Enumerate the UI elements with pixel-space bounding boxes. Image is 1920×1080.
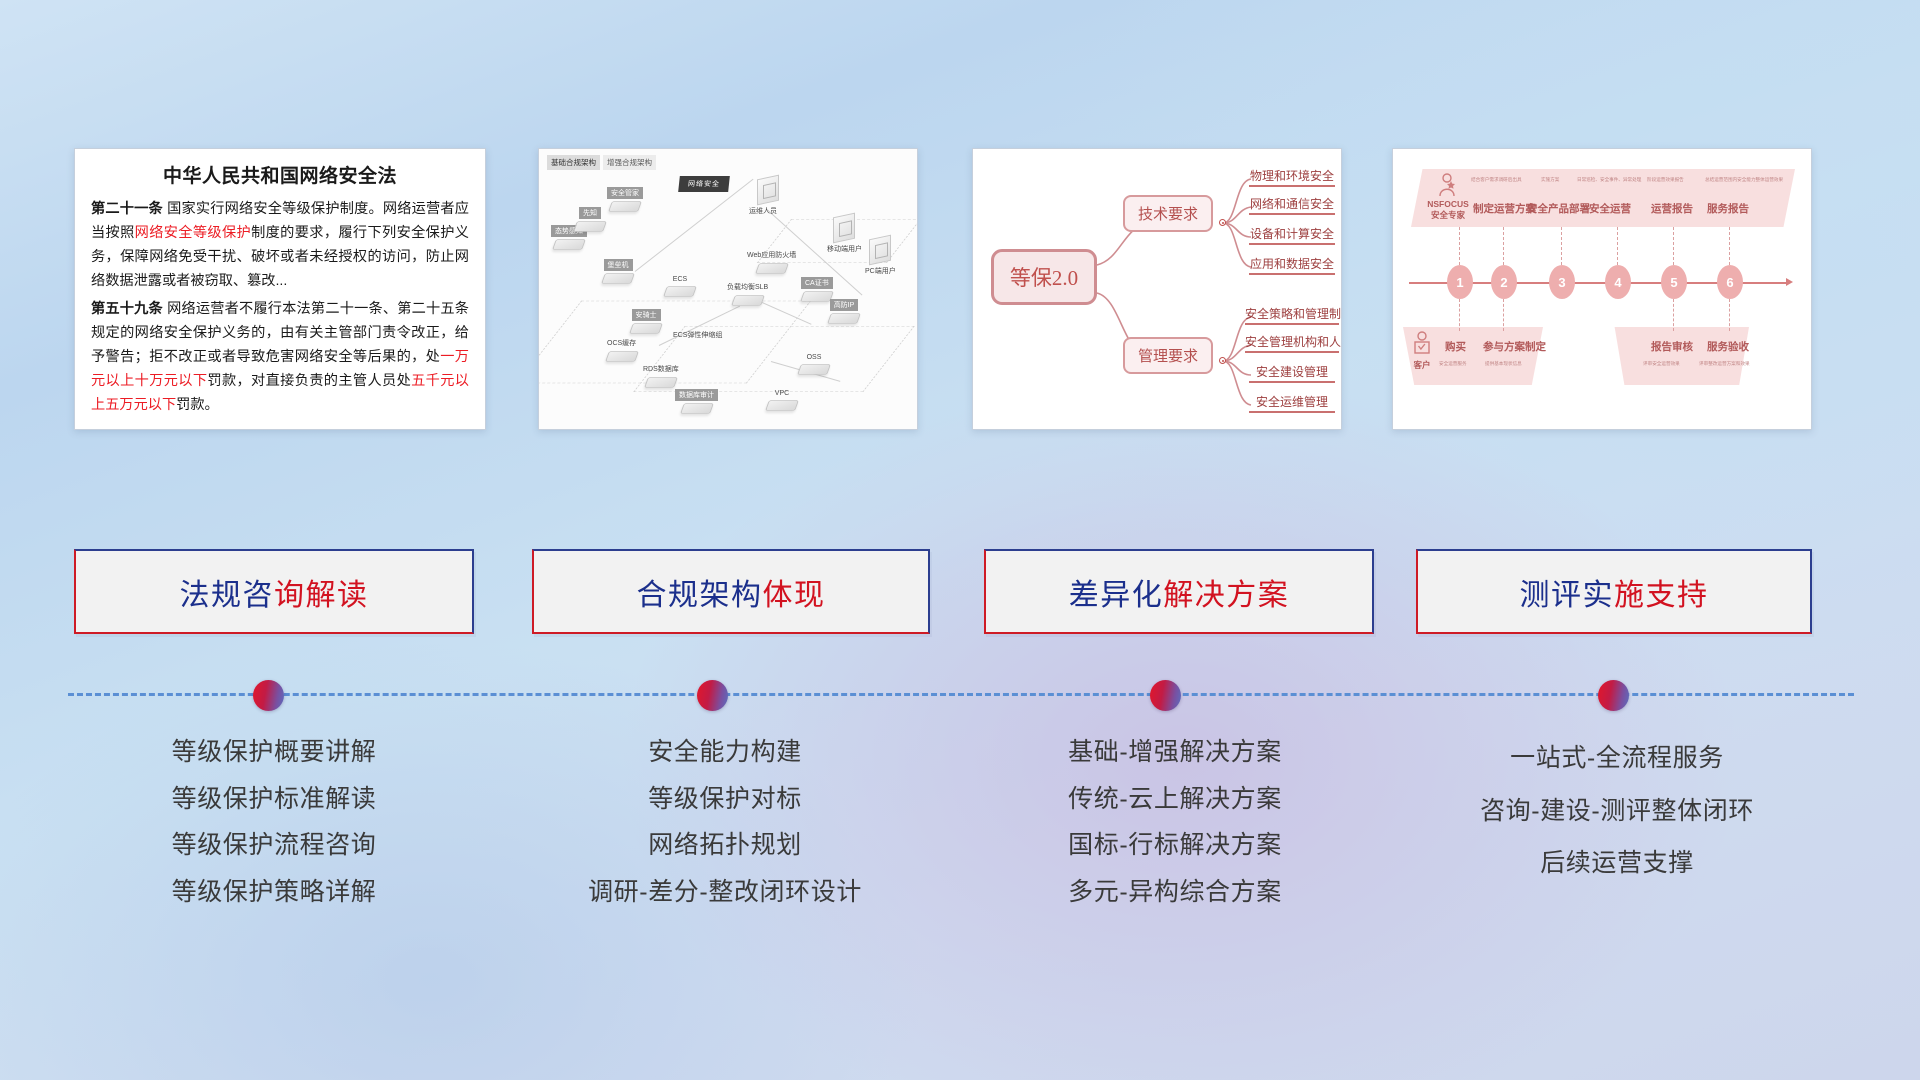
nsfocus-top-title-5: 服务报告	[1707, 201, 1749, 216]
nsfocus-dash-5	[1673, 227, 1674, 265]
card-cybersecurity-law[interactable]: 中华人民共和国网络安全法 第二十一条 国家实行网络安全等级保护制度。网络运营者应…	[74, 148, 486, 430]
nsfocus-dash-2	[1503, 227, 1504, 265]
nsfocus-top-title-4: 运营报告	[1651, 201, 1693, 216]
card-mindmap-dengbao[interactable]: 等保2.0 技术要求 物理和环境安全 网络和通信安全 设备和计算安全 应用和数据…	[972, 148, 1342, 430]
node-label: PC端用户	[861, 265, 900, 277]
nsfocus-timeline-diagram: NSFOCUS 安全专家 客户	[1393, 149, 1811, 429]
mindmap-leaf-org-personnel: 安全管理机构和人员	[1245, 333, 1339, 353]
architecture-diagram: 基础合规架构 增强合规架构 网络安全 态势感知 先知 安全管家 堡垒机 安骑士	[539, 149, 917, 429]
mindmap-expand-dot-management[interactable]	[1219, 357, 1226, 364]
section-title-1: 法规咨询解读	[180, 570, 369, 614]
nsfocus-dash-4	[1617, 227, 1618, 265]
nsfocus-top-sub-5: 总结运营范围内安全能力整体运营效果	[1705, 177, 1783, 183]
list-item: 后续运营支撑	[1540, 846, 1694, 882]
timeline-dot-3[interactable]	[1150, 680, 1181, 711]
node-web-application-firewall: Web应用防火墙	[743, 251, 800, 276]
mindmap-leaf-ops-mgmt: 安全运维管理	[1249, 393, 1335, 413]
nsfocus-step-6[interactable]: 6	[1717, 265, 1743, 299]
node-label: 运维人员	[745, 205, 781, 217]
node-label: 高防IP	[830, 299, 859, 311]
nsfocus-dash-b2	[1503, 299, 1504, 331]
section-title-3-red: 解决方案	[1163, 579, 1289, 612]
node-chip	[663, 286, 697, 297]
node-vpc: VPC	[767, 391, 797, 413]
mindmap-leaf-device-compute: 设备和计算安全	[1249, 225, 1335, 245]
architecture-connector-1	[635, 179, 754, 272]
node-chip	[731, 295, 765, 306]
mindmap-branch-management: 管理要求	[1123, 337, 1213, 374]
node-chip	[644, 377, 678, 388]
node-label: 安骑士	[632, 309, 661, 321]
nsfocus-bottom-title-3: 报告审核	[1651, 339, 1693, 354]
list-item: 等级保护策略详解	[172, 875, 377, 911]
section-title-3: 差异化解决方案	[1069, 570, 1290, 614]
node-chip	[765, 400, 799, 411]
node-pc-user: PC端用户	[861, 267, 900, 277]
mindmap-expand-dot-technical[interactable]	[1219, 219, 1226, 226]
timeline-dot-1[interactable]	[253, 680, 284, 711]
node-chip	[552, 239, 586, 250]
node-label: Web应用防火墙	[743, 249, 800, 261]
nsfocus-dash-6	[1729, 227, 1730, 265]
list-item: 多元-异构综合方案	[1068, 875, 1282, 911]
node-label: 移动端用户	[823, 243, 866, 255]
nsfocus-customer-role: 客户	[1409, 359, 1435, 371]
architecture-badge: 网络安全	[678, 176, 730, 192]
nsfocus-dash-3	[1561, 227, 1562, 265]
section-title-box-1[interactable]: 法规咨询解读	[74, 549, 474, 634]
law-article-59: 第五十九条 网络运营者不履行本法第二十一条、第二十五条规定的网络安全保护义务的，…	[91, 298, 469, 417]
article-59-text-after: 罚款。	[176, 397, 219, 413]
node-rds-database: RDS数据库	[639, 365, 683, 390]
nsfocus-dash-1	[1459, 227, 1460, 265]
nsfocus-expert-role: NSFOCUS 安全专家	[1419, 199, 1477, 220]
law-article-21: 第二十一条 国家实行网络安全等级保护制度。网络运营者应当按照网络安全等级保护制度…	[91, 198, 469, 293]
server-icon-mobile	[833, 213, 855, 244]
mindmap-branch-technical: 技术要求	[1123, 195, 1213, 232]
node-label: OCS缓存	[603, 337, 640, 349]
node-ecs-scaling-group: ECS弹性伸缩组	[669, 331, 726, 341]
node-anti-ddos-ip: 高防IP	[829, 301, 859, 326]
tab-enhanced-architecture[interactable]: 增强合规架构	[603, 155, 656, 170]
server-icon-ops	[757, 175, 779, 206]
node-chip	[797, 364, 831, 375]
article-59-text-middle: 罚款，对直接负责的主管人员处	[207, 373, 411, 389]
list-item: 一站式-全流程服务	[1510, 741, 1724, 777]
node-label: CA证书	[801, 277, 833, 289]
nsfocus-step-5[interactable]: 5	[1661, 265, 1687, 299]
nsfocus-axis-arrow-icon	[1786, 278, 1793, 286]
nsfocus-top-title-3: 安全运营	[1589, 201, 1631, 216]
nsfocus-top-sub-3: 日常巡检、安全事件、异常处理	[1577, 177, 1641, 183]
list-item: 传统-云上解决方案	[1068, 782, 1282, 818]
nsfocus-top-sub-1: 结合客户需求调研后出具	[1471, 177, 1522, 183]
tab-basic-architecture[interactable]: 基础合规架构	[547, 155, 600, 170]
mindmap-leaf-physical-env: 物理和环境安全	[1249, 167, 1335, 187]
nsfocus-step-4[interactable]: 4	[1605, 265, 1631, 299]
node-chip	[629, 323, 663, 334]
section-title-box-2[interactable]: 合规架构体现	[532, 549, 930, 634]
list-item: 安全能力构建	[648, 735, 802, 771]
nsfocus-bottom-sub-4: 评审整改运营方案和效果	[1699, 361, 1750, 367]
node-chip	[605, 351, 639, 362]
section-title-2-blue: 合规架构	[637, 579, 763, 612]
mindmap-leaf-network-comm: 网络和通信安全	[1249, 195, 1335, 215]
list-item: 调研-差分-整改闭环设计	[588, 875, 862, 911]
nsfocus-customer-band-right	[1609, 327, 1749, 385]
section-items-column-3: 基础-增强解决方案 传统-云上解决方案 国标-行标解决方案 多元-异构综合方案	[970, 735, 1380, 910]
nsfocus-bottom-title-2: 参与方案制定	[1483, 339, 1546, 354]
node-label: ECS	[669, 275, 691, 284]
node-label: 数据库审计	[675, 389, 718, 401]
node-chip	[680, 403, 714, 414]
law-card-title: 中华人民共和国网络安全法	[91, 161, 469, 188]
node-xianzhi: 先知	[575, 209, 605, 234]
mindmap-leaf-policy-system: 安全策略和管理制度	[1245, 305, 1339, 325]
section-title-box-4[interactable]: 测评实施支持	[1416, 549, 1812, 634]
section-title-4: 测评实施支持	[1520, 570, 1709, 614]
mindmap-leaf-construction-mgmt: 安全建设管理	[1249, 363, 1335, 383]
nsfocus-bottom-sub-3: 评审安全运营效果	[1643, 361, 1680, 367]
nsfocus-step-2[interactable]: 2	[1491, 265, 1517, 299]
node-label: 先知	[579, 207, 601, 219]
section-title-1-red: 询解读	[274, 579, 369, 612]
section-title-4-red: 施支持	[1614, 579, 1709, 612]
node-oss: OSS	[799, 355, 829, 377]
node-chip	[573, 221, 607, 232]
list-item: 网络拓扑规划	[648, 828, 802, 864]
node-label: 安全管家	[607, 187, 643, 199]
nsfocus-top-title-2: 安全产品部署	[1527, 201, 1590, 216]
list-item: 国标-行标解决方案	[1068, 828, 1282, 864]
mindmap-root-node: 等保2.0	[991, 249, 1097, 305]
architecture-tabs: 基础合规架构 增强合规架构	[547, 155, 656, 170]
card-cloud-architecture[interactable]: 基础合规架构 增强合规架构 网络安全 态势感知 先知 安全管家 堡垒机 安骑士	[538, 148, 918, 430]
node-chip	[827, 313, 861, 324]
node-database-audit: 数据库审计	[675, 391, 718, 416]
node-chip	[601, 273, 635, 284]
node-chip	[755, 263, 789, 274]
section-title-2: 合规架构体现	[637, 570, 826, 614]
nsfocus-dash-b3	[1673, 299, 1674, 331]
mindmap-diagram: 等保2.0 技术要求 物理和环境安全 网络和通信安全 设备和计算安全 应用和数据…	[973, 149, 1341, 429]
timeline-dot-2[interactable]	[697, 680, 728, 711]
node-label: VPC	[771, 389, 793, 398]
customer-person-icon	[1413, 331, 1431, 357]
article-21-label: 第二十一条	[91, 201, 163, 217]
expert-person-icon	[1437, 173, 1457, 197]
nsfocus-dash-b1	[1459, 299, 1460, 331]
nsfocus-bottom-title-4: 服务验收	[1707, 339, 1749, 354]
list-item: 等级保护标准解读	[172, 782, 377, 818]
section-titles-row: 法规咨询解读 合规架构体现 差异化解决方案 测评实施支持	[0, 549, 1920, 641]
nsfocus-top-sub-4: 阶段运营效果报告	[1647, 177, 1684, 183]
nsfocus-bottom-title-1: 购买	[1445, 339, 1466, 354]
nsfocus-dash-b4	[1729, 299, 1730, 331]
list-item: 咨询-建设-测评整体闭环	[1480, 794, 1754, 830]
nsfocus-bottom-sub-2: 提供基本现状信息	[1485, 361, 1522, 367]
section-items-column-2: 安全能力构建 等级保护对标 网络拓扑规划 调研-差分-整改闭环设计	[520, 735, 930, 910]
section-title-1-blue: 法规咨	[180, 579, 275, 612]
article-21-highlight: 网络安全等级保护	[135, 225, 251, 241]
node-ca-certificate: CA证书	[801, 279, 833, 304]
timeline-dot-4[interactable]	[1598, 680, 1629, 711]
section-items-column-4: 一站式-全流程服务 咨询-建设-测评整体闭环 后续运营支撑	[1412, 735, 1822, 882]
node-ocs-cache: OCS缓存	[603, 339, 640, 364]
node-security-butler: 安全管家	[607, 189, 643, 214]
node-label: 负载均衡SLB	[723, 281, 772, 293]
image-cards-row: 中华人民共和国网络安全法 第二十一条 国家实行网络安全等级保护制度。网络运营者应…	[0, 148, 1920, 438]
list-item: 等级保护对标	[648, 782, 802, 818]
section-title-2-red: 体现	[763, 579, 826, 612]
node-bastion-host: 堡垒机	[603, 261, 633, 286]
node-load-balancer-slb: 负载均衡SLB	[723, 283, 772, 308]
node-label: RDS数据库	[639, 363, 683, 375]
node-chip	[608, 201, 642, 212]
nsfocus-step-1[interactable]: 1	[1447, 265, 1473, 299]
nsfocus-bottom-sub-1: 安全运营服务	[1439, 361, 1467, 367]
article-59-label: 第五十九条	[91, 301, 163, 317]
expert-role-line2: 安全专家	[1431, 210, 1465, 220]
nsfocus-step-3[interactable]: 3	[1549, 265, 1575, 299]
timeline-dashed-line	[68, 693, 1854, 696]
mindmap-leaf-app-data: 应用和数据安全	[1249, 255, 1335, 275]
section-items-column-1: 等级保护概要讲解 等级保护标准解读 等级保护流程咨询 等级保护策略详解	[74, 735, 474, 910]
section-title-box-3[interactable]: 差异化解决方案	[984, 549, 1374, 634]
node-ecs: ECS	[665, 277, 695, 299]
list-item: 基础-增强解决方案	[1068, 735, 1282, 771]
node-label: 堡垒机	[604, 259, 633, 271]
list-item: 等级保护流程咨询	[172, 828, 377, 864]
nsfocus-top-sub-2: 实施方案	[1541, 177, 1559, 183]
expert-role-line1: NSFOCUS	[1427, 199, 1469, 209]
node-mobile-user: 移动端用户	[823, 245, 866, 255]
section-title-3-blue: 差异化	[1069, 579, 1164, 612]
server-icon-pc	[869, 235, 891, 266]
section-title-4-blue: 测评实	[1520, 579, 1615, 612]
card-nsfocus-timeline[interactable]: NSFOCUS 安全专家 客户	[1392, 148, 1812, 430]
node-anqishi: 安骑士	[631, 311, 661, 336]
node-label: ECS弹性伸缩组	[669, 329, 726, 341]
list-item: 等级保护概要讲解	[172, 735, 377, 771]
node-label: OSS	[803, 353, 826, 362]
node-ops-personnel: 运维人员	[745, 207, 781, 217]
